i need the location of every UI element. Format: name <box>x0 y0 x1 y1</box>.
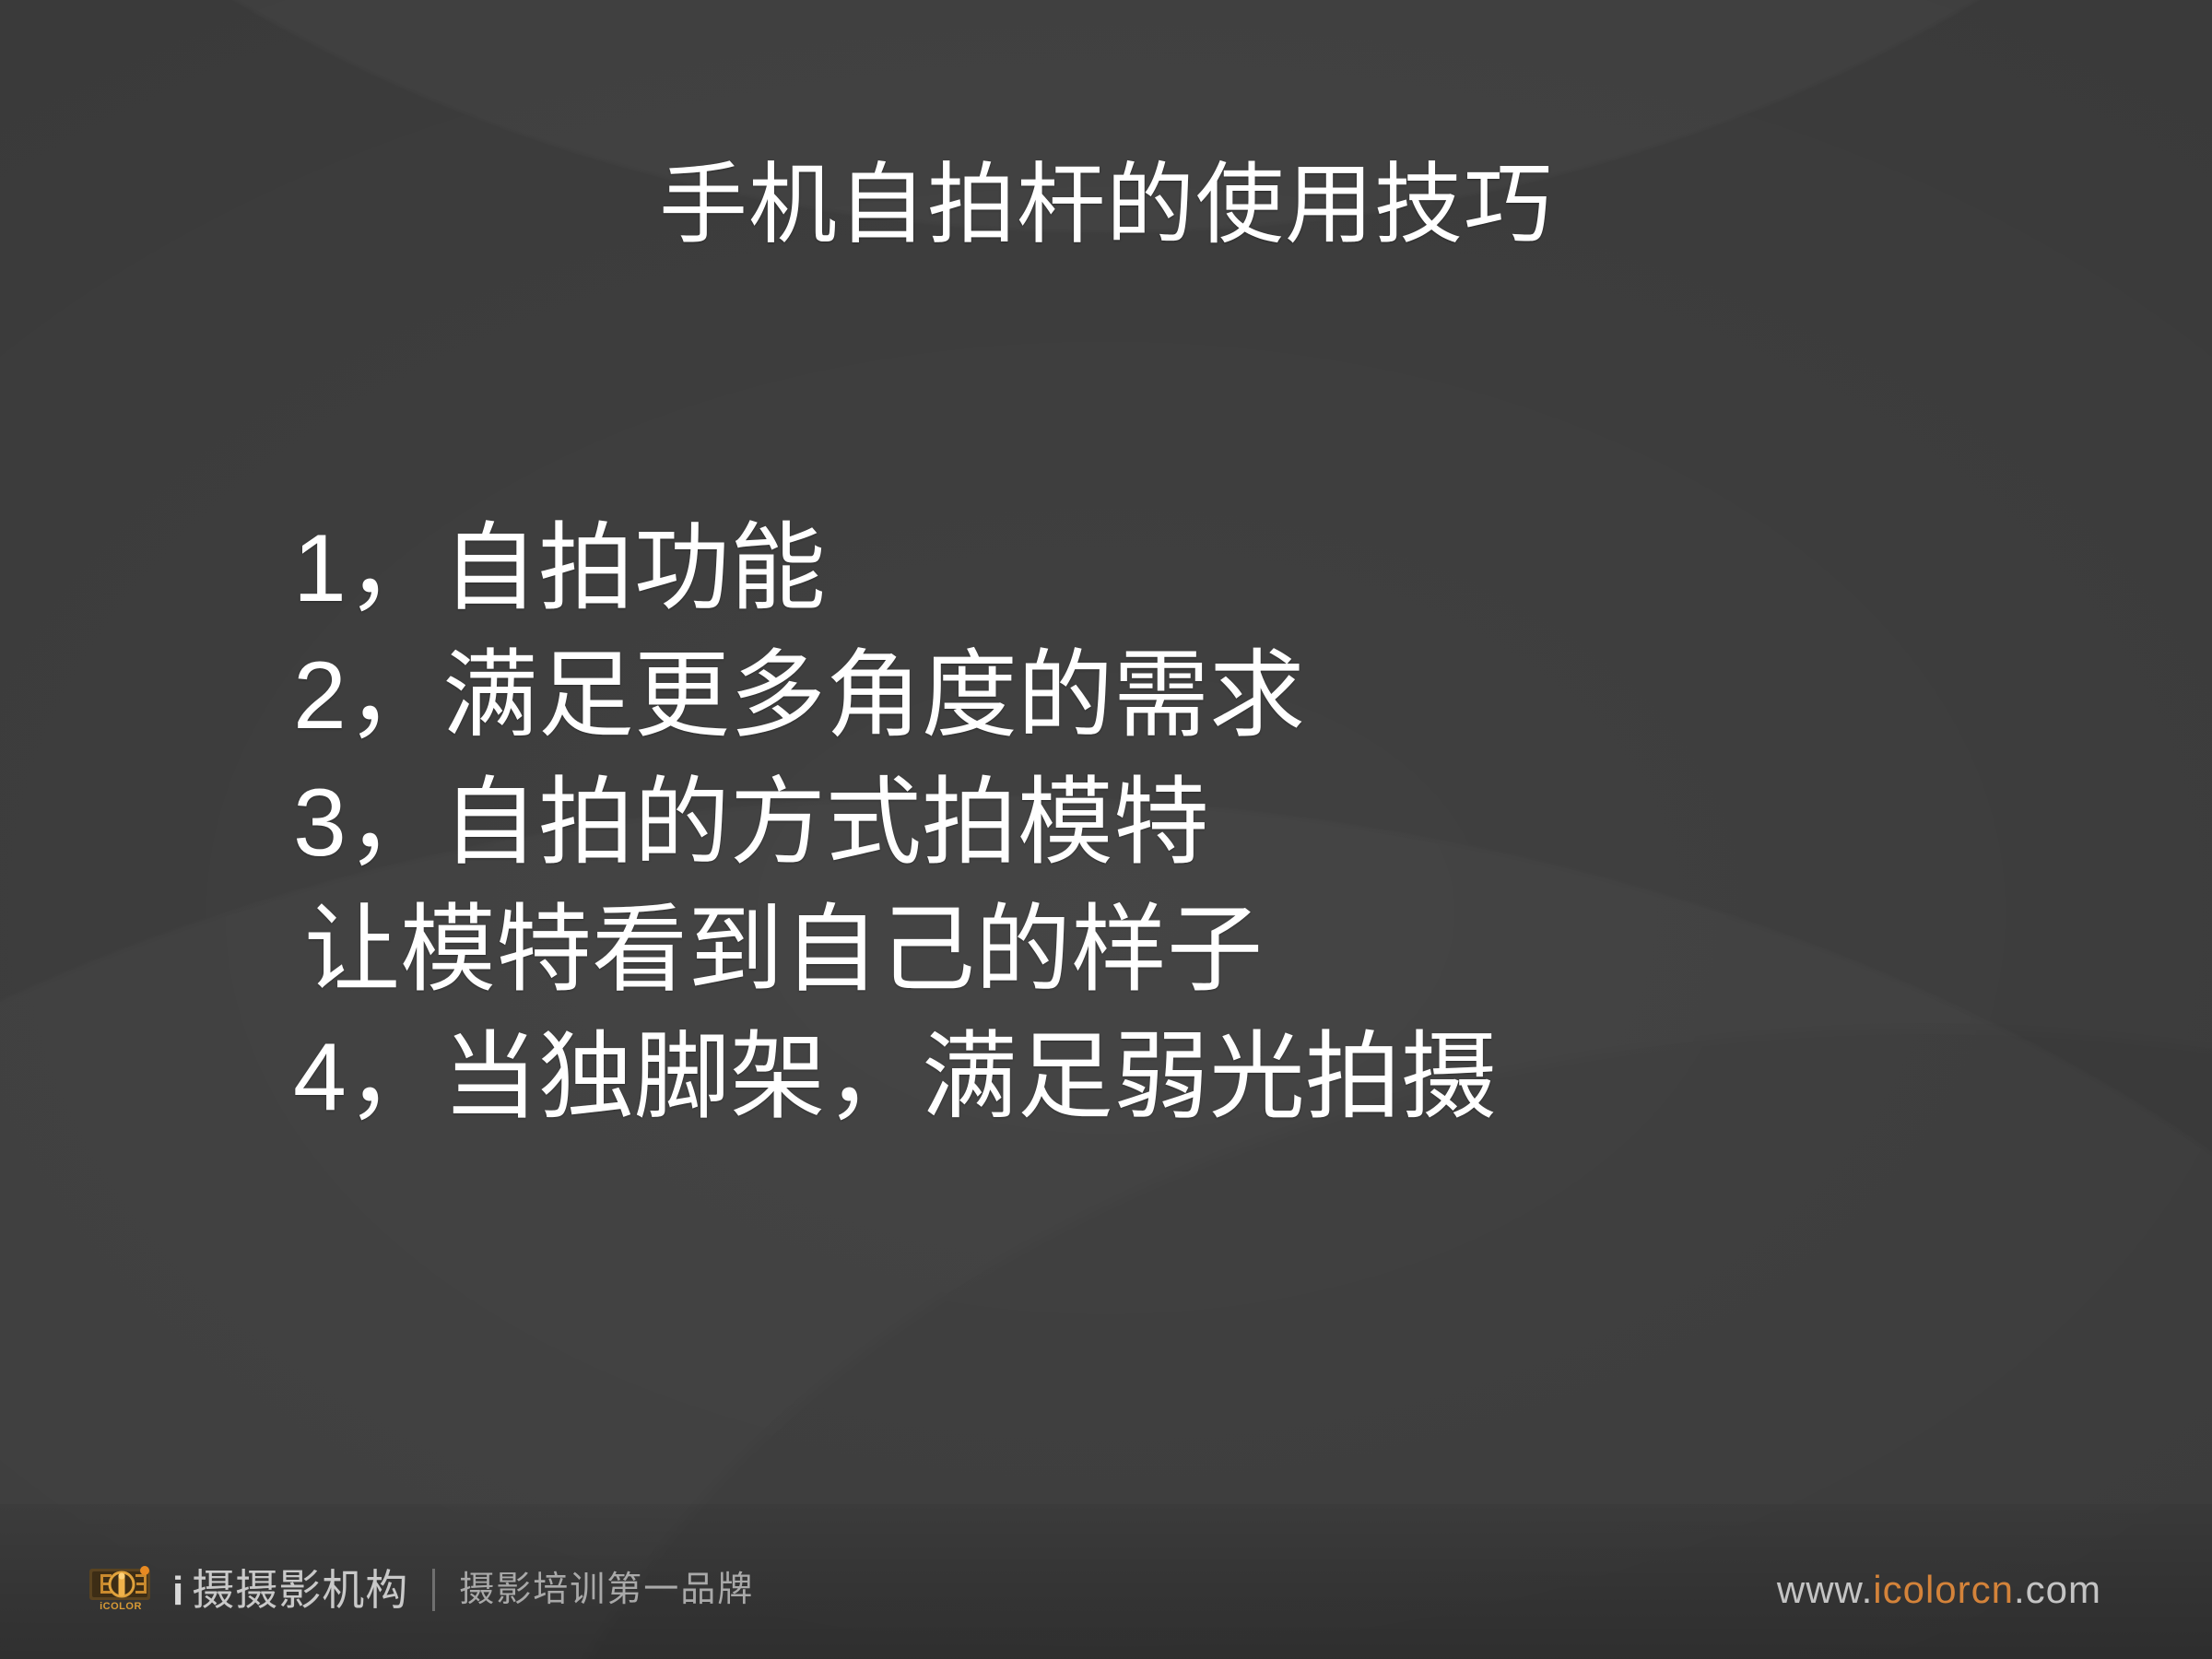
icolor-emblem-icon: iCOLOR <box>88 1565 156 1615</box>
website-url-prefix: www. <box>1777 1568 1873 1611</box>
body-line-5: 4，当独脚架，满足弱光拍摄 <box>293 1014 2044 1141</box>
footer-content: iCOLOR i 摄摄影机构 摄影培训第一品牌 www.icolorcn.com <box>88 1561 2101 1618</box>
brand-tagline: 摄影培训第一品牌 <box>459 1572 754 1607</box>
svg-text:iCOLOR: iCOLOR <box>100 1601 142 1612</box>
body-line-3: 3，自拍的方式拍模特 <box>293 759 2044 887</box>
brand-name-text: 摄摄影机构 <box>192 1569 408 1611</box>
website-url: www.icolorcn.com <box>1684 1532 2101 1648</box>
body-line-4: 让模特看到自己的样子 <box>293 887 2044 1014</box>
website-url-suffix: .com <box>2014 1568 2101 1611</box>
slide-body: 1，自拍功能 2，满足更多角度的需求 3，自拍的方式拍模特 让模特看到自己的样子… <box>293 505 2044 1141</box>
brand-name: i 摄摄影机构 <box>172 1569 408 1612</box>
footer-bar: iCOLOR i 摄摄影机构 摄影培训第一品牌 www.icolorcn.com <box>0 1504 2212 1659</box>
slide-canvas: 手机自拍杆的使用技巧 1，自拍功能 2，满足更多角度的需求 3，自拍的方式拍模特… <box>0 0 2212 1659</box>
website-url-domain: icolorcn <box>1873 1568 2014 1611</box>
body-line-2: 2，满足更多角度的需求 <box>293 632 2044 759</box>
brand-lockup: iCOLOR i 摄摄影机构 <box>88 1565 408 1615</box>
brand-prefix: i <box>172 1571 184 1612</box>
slide-title: 手机自拍杆的使用技巧 <box>0 155 2212 256</box>
footer-separator <box>432 1569 435 1611</box>
body-line-1: 1，自拍功能 <box>293 505 2044 632</box>
